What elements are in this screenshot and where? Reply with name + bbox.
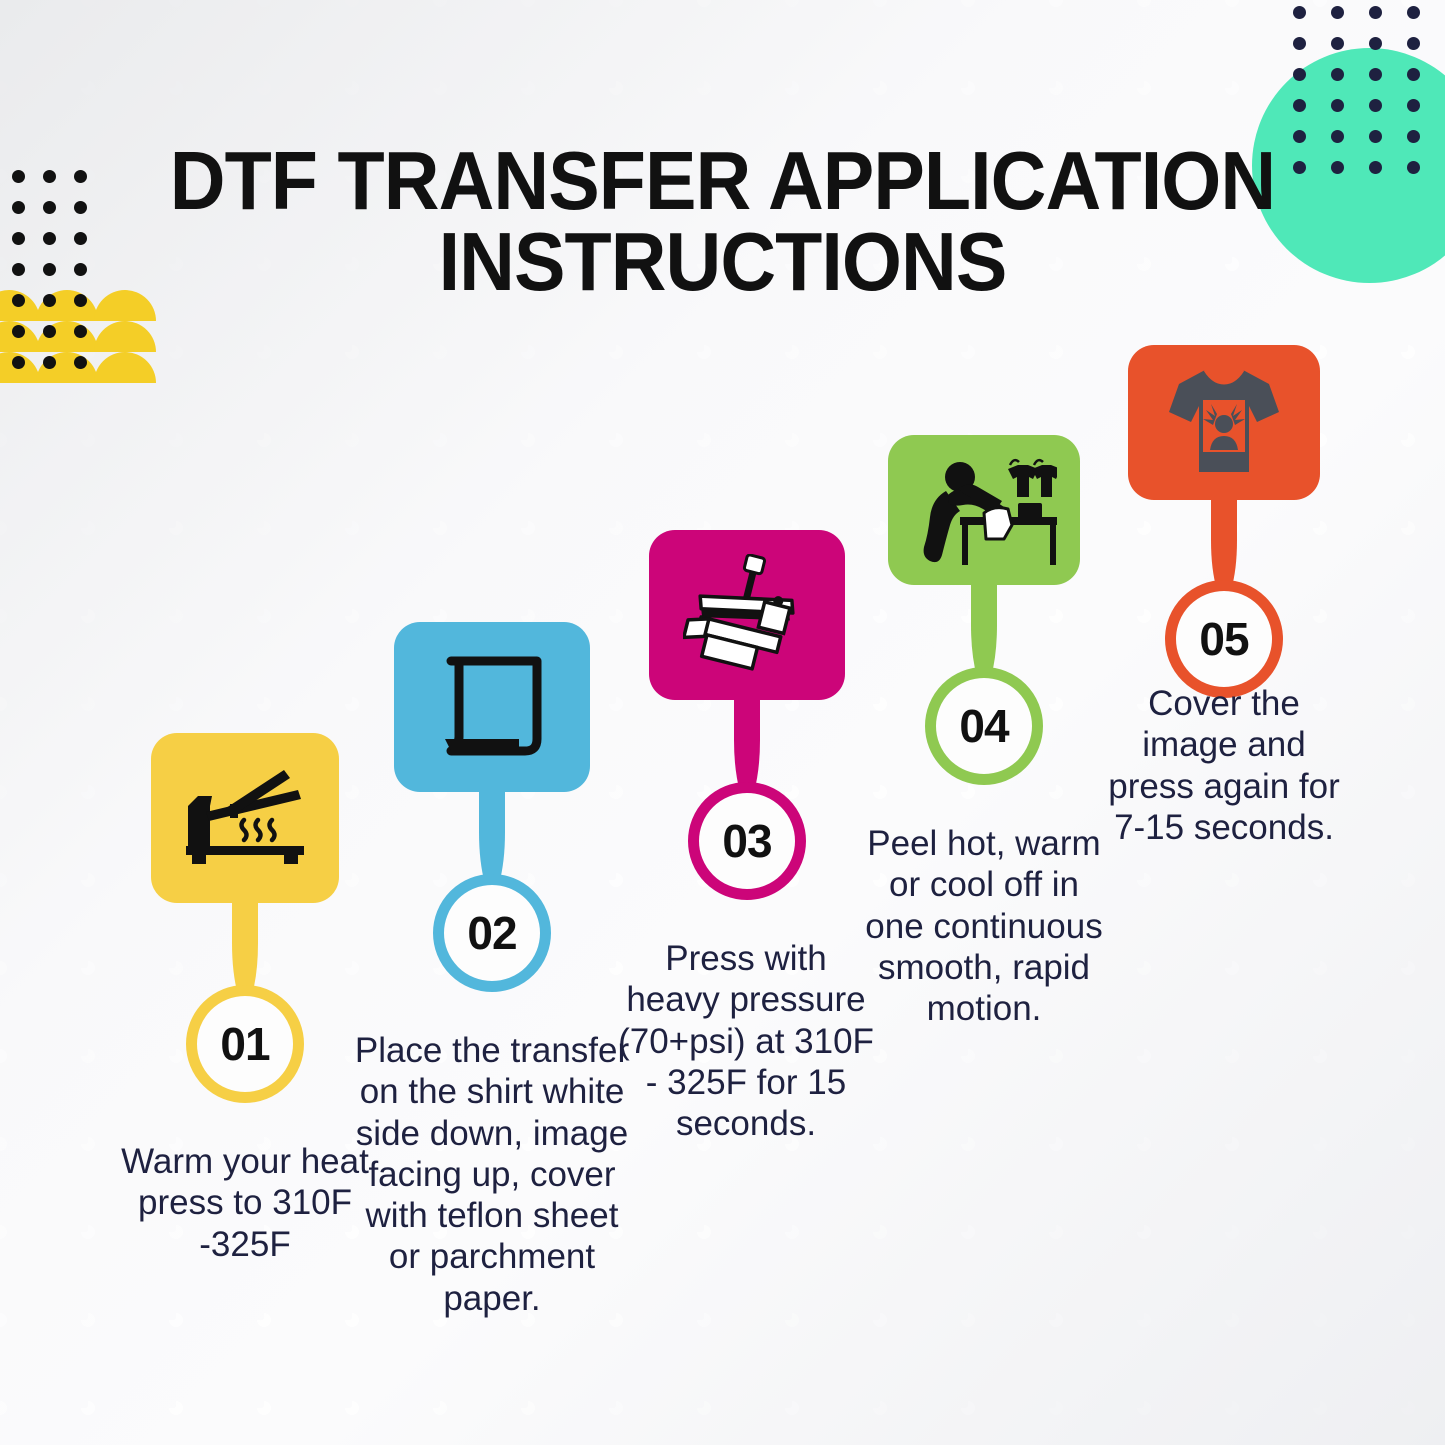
step-04[interactable]: 04 Peel hot, warm or cool off in one con… <box>864 435 1104 585</box>
steps-container: 01 Warm your heat press to 310F -325F 02… <box>0 0 1445 1445</box>
step-04-number: 04 <box>959 699 1008 753</box>
step-05-caption: Cover the image and press again for 7-15… <box>1099 683 1349 848</box>
step-01[interactable]: 01 Warm your heat press to 310F -325F <box>120 733 370 903</box>
step-03-number-circle[interactable]: 03 <box>688 782 806 900</box>
transfer-sheet-icon <box>437 655 547 760</box>
step-05-number: 05 <box>1199 612 1248 666</box>
step-05-connector <box>1211 500 1237 590</box>
step-04-caption: Peel hot, warm or cool off in one contin… <box>858 823 1110 1029</box>
step-03[interactable]: 03 Press with heavy pressure (70+psi) at… <box>622 530 872 700</box>
step-02-number-circle[interactable]: 02 <box>433 874 551 992</box>
step-01-number: 01 <box>220 1017 269 1071</box>
step-01-caption: Warm your heat press to 310F -325F <box>120 1141 370 1265</box>
step-02-connector <box>479 792 505 884</box>
person-peeling-transfer-icon <box>912 451 1057 569</box>
step-05-icon-badge[interactable] <box>1128 345 1320 500</box>
step-05[interactable]: 05 Cover the image and press again for 7… <box>1104 345 1344 500</box>
step-03-connector <box>734 700 760 792</box>
step-01-icon-badge[interactable] <box>151 733 339 903</box>
step-04-number-circle[interactable]: 04 <box>925 667 1043 785</box>
step-03-icon-badge[interactable] <box>649 530 845 700</box>
step-04-connector <box>971 585 997 677</box>
step-03-number: 03 <box>722 814 771 868</box>
heat-press-open-icon <box>180 768 310 868</box>
step-03-caption: Press with heavy pressure (70+psi) at 31… <box>617 938 875 1144</box>
step-01-number-circle[interactable]: 01 <box>186 985 304 1103</box>
step-05-number-circle[interactable]: 05 <box>1165 580 1283 698</box>
step-02[interactable]: 02 Place the transfer on the shirt white… <box>362 622 622 792</box>
step-02-number: 02 <box>467 906 516 960</box>
step-01-connector <box>232 903 258 995</box>
heat-press-machine-icon <box>683 554 811 676</box>
step-02-icon-badge[interactable] <box>394 622 590 792</box>
step-04-icon-badge[interactable] <box>888 435 1080 585</box>
step-02-caption: Place the transfer on the shirt white si… <box>354 1030 630 1319</box>
printed-tshirt-icon <box>1161 360 1287 486</box>
